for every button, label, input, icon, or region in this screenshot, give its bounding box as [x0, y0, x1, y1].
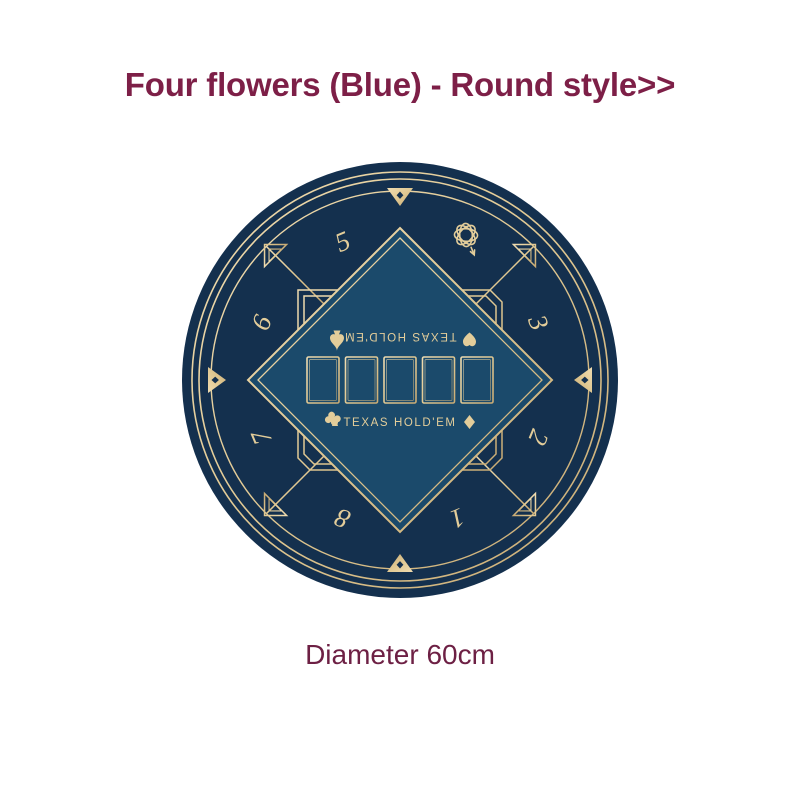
- texas-holdem-text-bottom: TEXAS HOLD'EM: [343, 417, 456, 429]
- product-image: Four flowers (Blue) - Round style>>: [0, 0, 800, 800]
- poker-mat-svg: TEXAS HOLD'EM TEXAS HOLD'EM 1235678: [180, 160, 620, 600]
- center-label-top: TEXAS HOLD'EM: [343, 330, 456, 342]
- poker-mat-illustration: TEXAS HOLD'EM TEXAS HOLD'EM 1235678: [180, 160, 620, 600]
- page-title: Four flowers (Blue) - Round style>>: [0, 66, 800, 104]
- size-caption: Diameter 60cm: [0, 639, 800, 671]
- texas-holdem-text-top: TEXAS HOLD'EM: [343, 330, 456, 342]
